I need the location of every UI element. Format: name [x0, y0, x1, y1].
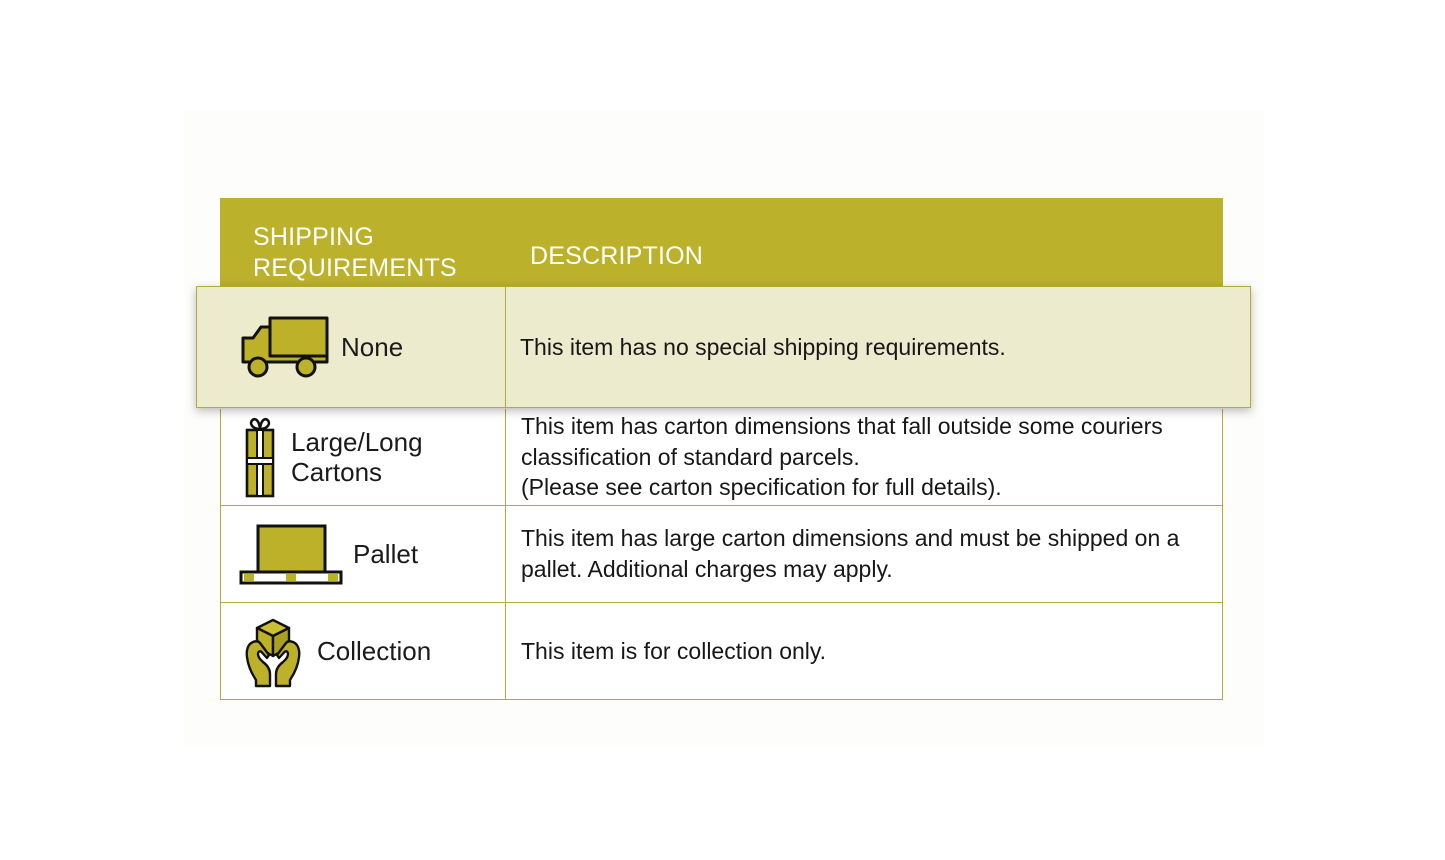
- row-requirement-cell: Large/Long Cartons: [221, 409, 506, 505]
- tall-parcel-icon: [239, 416, 281, 498]
- description-line: This item has large carton dimensions an…: [521, 523, 1179, 554]
- hands-holding-box-icon: [239, 614, 307, 688]
- pallet-icon: [239, 523, 343, 585]
- column-header-shipping-requirements: SHIPPING REQUIREMENTS: [253, 222, 513, 284]
- description-line: classification of standard parcels.: [521, 442, 1163, 473]
- row-description-cell: This item is for collection only.: [506, 603, 1222, 699]
- row-requirement-cell: Pallet: [221, 506, 506, 602]
- delivery-truck-icon: [239, 315, 331, 379]
- row-description-cell: This item has large carton dimensions an…: [506, 506, 1222, 602]
- table-row[interactable]: Large/Long Cartons This item has carton …: [220, 409, 1223, 506]
- table-row[interactable]: Collection This item is for collection o…: [220, 603, 1223, 700]
- column-header-description: DESCRIPTION: [530, 241, 830, 272]
- table-row-highlighted[interactable]: None This item has no special shipping r…: [196, 286, 1251, 408]
- row-requirement-label: Collection: [307, 636, 431, 666]
- row-description-cell: This item has no special shipping requir…: [506, 287, 1250, 407]
- row-description-text: This item has no special shipping requir…: [520, 332, 1006, 363]
- row-description-text: This item has large carton dimensions an…: [521, 523, 1179, 585]
- row-description-text: This item has carton dimensions that fal…: [521, 411, 1163, 503]
- table-row[interactable]: Pallet This item has large carton dimens…: [220, 506, 1223, 603]
- description-line: (Please see carton specification for ful…: [521, 472, 1163, 503]
- description-line: pallet. Additional charges may apply.: [521, 554, 1179, 585]
- shipping-requirements-table: SHIPPING REQUIREMENTS DESCRIPTION: [220, 198, 1223, 700]
- description-line: This item has carton dimensions that fal…: [521, 411, 1163, 442]
- row-description-cell: This item has carton dimensions that fal…: [506, 409, 1222, 505]
- row-requirement-label: Large/Long Cartons: [281, 427, 505, 488]
- row-requirement-cell: None: [197, 287, 506, 407]
- row-requirement-label: Pallet: [343, 539, 418, 569]
- table-header-row: SHIPPING REQUIREMENTS DESCRIPTION: [220, 198, 1223, 287]
- row-description-text: This item is for collection only.: [521, 636, 826, 667]
- row-requirement-label: None: [331, 332, 403, 362]
- row-requirement-cell: Collection: [221, 603, 506, 699]
